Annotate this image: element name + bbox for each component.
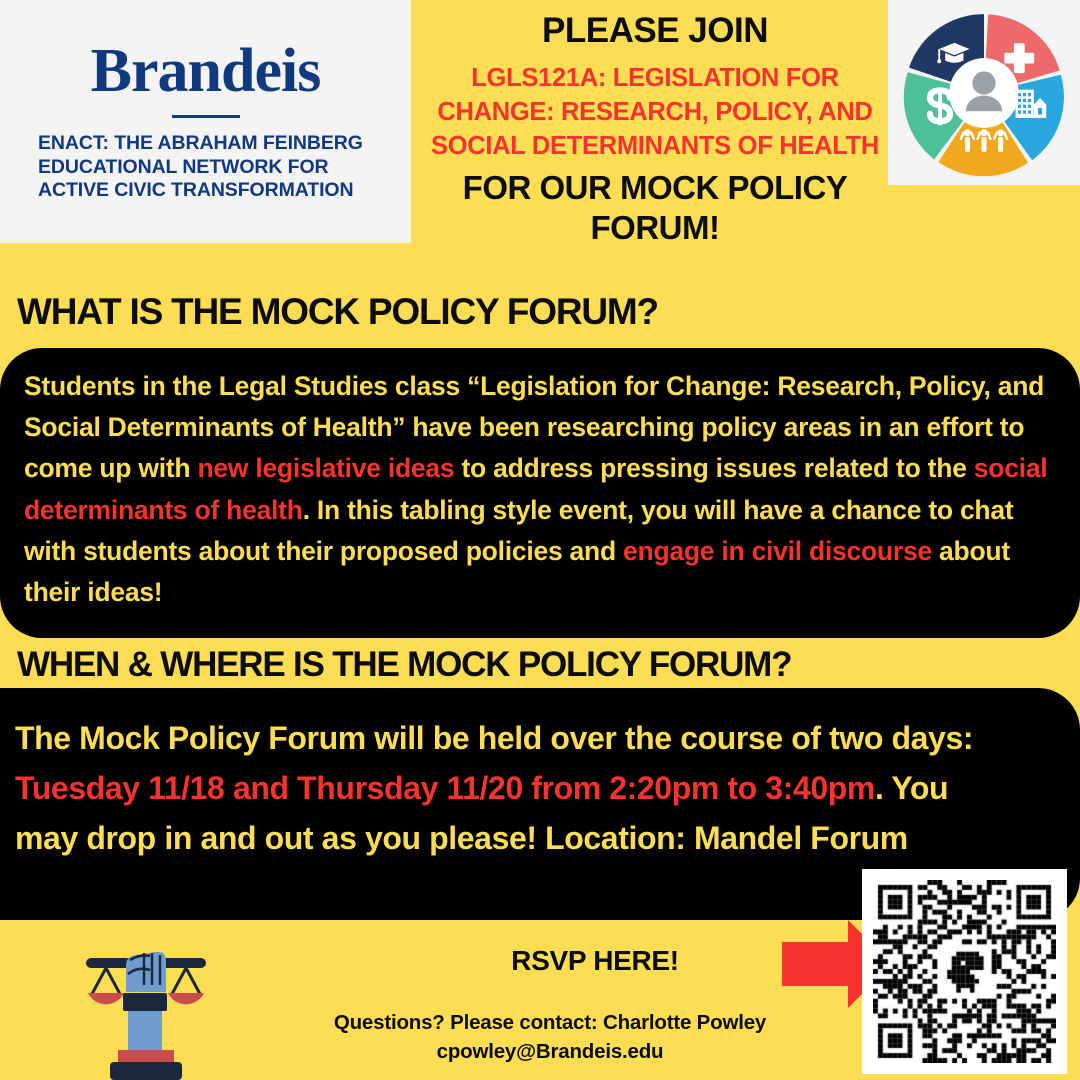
qr-code-canvas[interactable] — [873, 880, 1056, 1063]
for-our-mock-policy-forum: FOR OUR MOCK POLICY FORUM! — [420, 168, 890, 249]
fist-holding-scales-icon — [66, 930, 226, 1080]
enact-subtitle: ENACT: THE ABRAHAM FEINBERG EDUCATIONAL … — [38, 132, 373, 203]
heading-what-is-forum: WHAT IS THE MOCK POLICY FORUM? — [17, 291, 658, 333]
brandeis-wordmark: Brandeis — [91, 40, 321, 102]
when-paragraph: The Mock Policy Forum will be held over … — [15, 713, 1015, 864]
contact-question-line: Questions? Please contact: Charlotte Pow… — [240, 1008, 860, 1037]
what-paragraph: Students in the Legal Studies class “Leg… — [24, 366, 1060, 613]
sdoh-wheel-card — [888, 0, 1080, 185]
brandeis-logo-card: Brandeis ENACT: THE ABRAHAM FEINBERG EDU… — [0, 0, 411, 243]
heading-when-where: WHEN & WHERE IS THE MOCK POLICY FORUM? — [17, 645, 791, 685]
course-title: LGLS121A: LEGISLATION FOR CHANGE: RESEAR… — [420, 61, 890, 164]
rsvp-qr-code[interactable] — [862, 869, 1067, 1074]
contact-email: cpowley@Brandeis.edu — [240, 1037, 860, 1066]
contact-info: Questions? Please contact: Charlotte Pow… — [240, 1008, 860, 1066]
header-text-block: PLEASE JOIN LGLS121A: LEGISLATION FOR CH… — [420, 12, 890, 248]
rsvp-label: RSVP HERE! — [470, 945, 720, 977]
social-determinants-wheel-icon — [901, 10, 1067, 176]
brandeis-divider — [172, 115, 240, 118]
please-join-heading: PLEASE JOIN — [420, 12, 890, 51]
